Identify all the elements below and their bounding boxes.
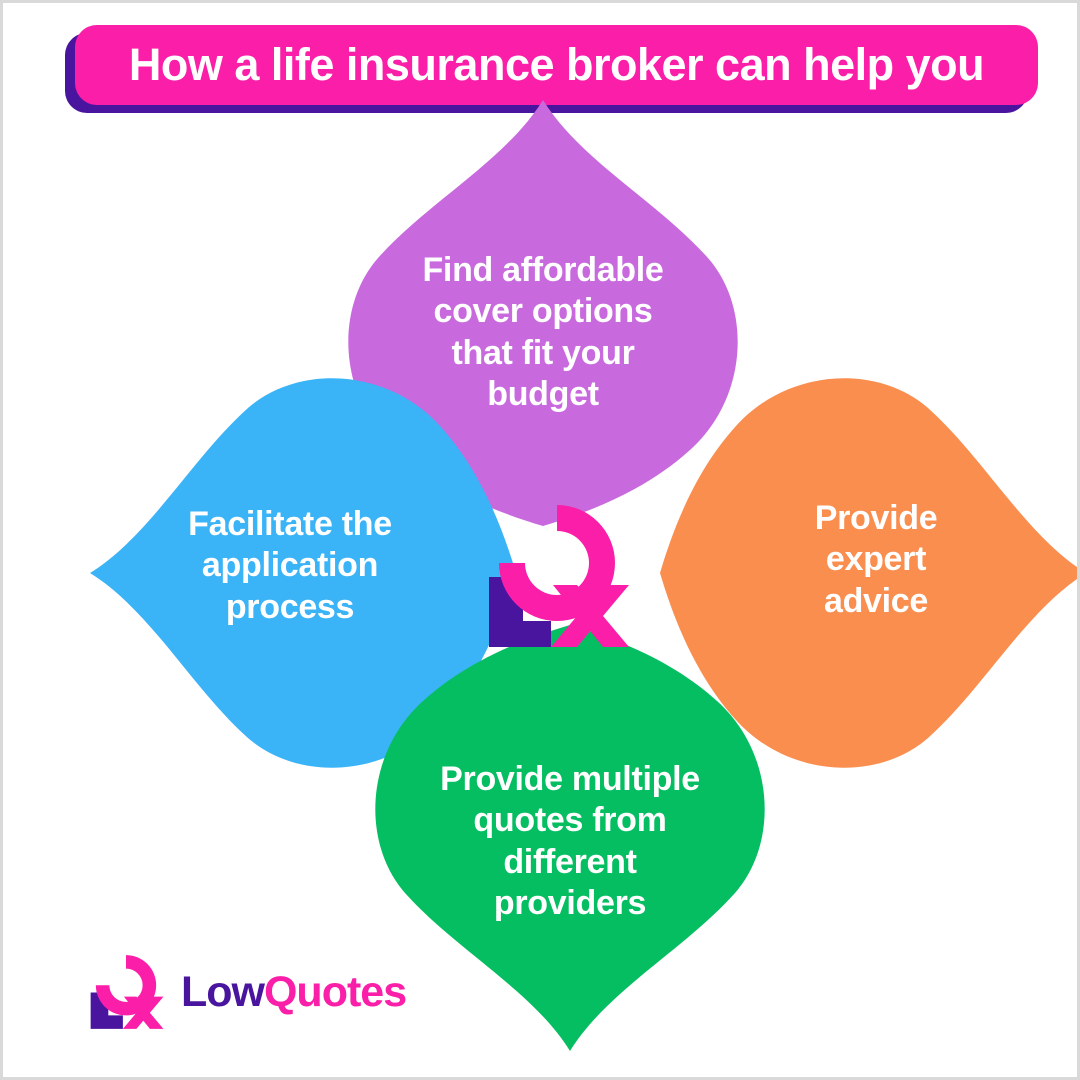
lowquotes-logo-mark-icon: [85, 953, 167, 1031]
infographic-canvas: How a life insurance broker can help you…: [0, 0, 1080, 1080]
brand-wordmark-quotes: Quotes: [264, 968, 406, 1016]
brand-lockup: LowQuotes: [85, 953, 406, 1031]
petal-right-label: Provide expert advice: [676, 498, 1076, 622]
petal-left-label: Facilitate the application process: [80, 504, 500, 628]
page-title: How a life insurance broker can help you: [129, 39, 984, 91]
brand-wordmark-low: Low: [181, 968, 264, 1016]
petal-bottom-label: Provide multiple quotes from different p…: [355, 759, 785, 925]
lowquotes-center-mark-icon: [481, 501, 633, 651]
brand-wordmark: LowQuotes: [181, 968, 406, 1017]
petal-bottom-provide-multiple-quotes[interactable]: Provide multiple quotes from different p…: [355, 623, 785, 1053]
title-banner: How a life insurance broker can help you: [75, 25, 1038, 105]
